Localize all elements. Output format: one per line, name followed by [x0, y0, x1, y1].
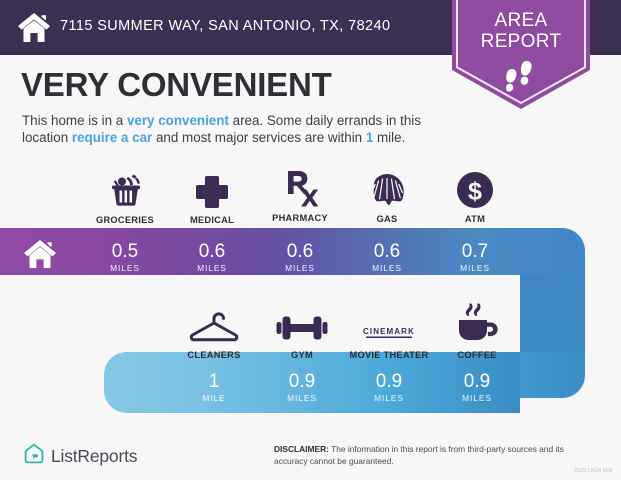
category-label: MOVIE THEATER	[347, 350, 431, 360]
distance-pharmacy: 0.6 MILES	[258, 242, 342, 273]
listreports-house-icon	[24, 443, 44, 469]
distance-unit: MILE	[172, 393, 256, 403]
property-address: 7115 SUMMER WAY, SAN ANTONIO, TX, 78240	[60, 18, 390, 34]
category-label: COFFEE	[435, 350, 519, 360]
distance-value: 0.6	[170, 242, 254, 262]
listreports-logo-text: ListReports	[51, 446, 137, 467]
distance-groceries: 0.5 MILES	[83, 242, 167, 273]
intro-text-1: This home is in a	[22, 113, 127, 128]
svg-text:CINEMARK: CINEMARK	[363, 327, 415, 336]
distance-value: 0.9	[435, 372, 519, 392]
category-pharmacy[interactable]: PHARMACY	[258, 166, 342, 223]
intro-text-4: mile.	[373, 130, 405, 145]
category-label: CLEANERS	[172, 350, 256, 360]
category-label: MEDICAL	[170, 215, 254, 225]
category-label: GAS	[345, 214, 429, 224]
category-coffee[interactable]: COFFEE	[435, 303, 519, 360]
house-icon	[17, 11, 51, 44]
pharmacy-rx-icon	[258, 166, 342, 208]
distance-unit: MILES	[433, 263, 517, 273]
intro-text-3: and most major services are within	[152, 130, 366, 145]
distance-cleaners: 1 MILE	[172, 372, 256, 403]
distance-value: 0.6	[345, 242, 429, 262]
distance-gas: 0.6 MILES	[345, 242, 429, 273]
category-atm[interactable]: $ ATM	[433, 167, 517, 224]
intro-paragraph: This home is in a very convenient area. …	[22, 112, 452, 146]
tiny-watermark: 2025 LR24 #LR	[574, 468, 613, 474]
distance-unit: MILES	[345, 263, 429, 273]
distance-unit: MILES	[258, 263, 342, 273]
category-medical[interactable]: MEDICAL	[170, 168, 254, 225]
badge-line-1: AREA	[452, 10, 590, 31]
distance-unit: MILES	[83, 263, 167, 273]
gas-shell-icon	[345, 167, 429, 209]
category-gym[interactable]: GYM	[260, 303, 344, 360]
category-label: ATM	[433, 214, 517, 224]
disclaimer: DISCLAIMER: The information in this repo…	[274, 444, 594, 467]
area-report-badge: AREA REPORT	[452, 0, 590, 109]
cleaners-hanger-icon	[172, 303, 256, 345]
intro-highlight-2: require a car	[72, 130, 152, 145]
medical-cross-icon	[170, 168, 254, 210]
category-label: GROCERIES	[83, 215, 167, 225]
gym-dumbbell-icon	[260, 303, 344, 345]
distance-value: 0.9	[347, 372, 431, 392]
svg-text:$: $	[468, 178, 482, 206]
distance-value: 0.9	[260, 372, 344, 392]
category-cleaners[interactable]: CLEANERS	[172, 303, 256, 360]
category-gas[interactable]: GAS	[345, 167, 429, 224]
distance-unit: MILES	[170, 263, 254, 273]
distance-value: 0.7	[433, 242, 517, 262]
listreports-logo[interactable]: ListReports	[24, 443, 137, 469]
area-report-page: 7115 SUMMER WAY, SAN ANTONIO, TX, 78240 …	[0, 0, 621, 480]
distance-unit: MILES	[347, 393, 431, 403]
distance-unit: MILES	[435, 393, 519, 403]
intro-highlight-1: very convenient	[127, 113, 229, 128]
page-title: VERY CONVENIENT	[21, 66, 332, 104]
badge-label: AREA REPORT	[452, 10, 590, 52]
distance-value: 0.6	[258, 242, 342, 262]
distance-value: 0.5	[83, 242, 167, 262]
distance-atm: 0.7 MILES	[433, 242, 517, 273]
distance-unit: MILES	[260, 393, 344, 403]
distance-movie-theater: 0.9 MILES	[347, 372, 431, 403]
disclaimer-label: DISCLAIMER:	[274, 444, 329, 454]
distance-gym: 0.9 MILES	[260, 372, 344, 403]
category-groceries[interactable]: GROCERIES	[83, 168, 167, 225]
category-label: GYM	[260, 350, 344, 360]
badge-line-2: REPORT	[452, 31, 590, 52]
distance-medical: 0.6 MILES	[170, 242, 254, 273]
atm-dollar-icon: $	[433, 167, 517, 209]
category-movie-theater[interactable]: CINEMARK MOVIE THEATER	[347, 303, 431, 360]
home-marker-icon	[23, 238, 57, 275]
cinemark-logo-icon: CINEMARK	[347, 303, 431, 345]
coffee-cup-icon	[435, 303, 519, 345]
groceries-basket-icon	[83, 168, 167, 210]
distance-value: 1	[172, 372, 256, 392]
distance-coffee: 0.9 MILES	[435, 372, 519, 403]
category-label: PHARMACY	[258, 213, 342, 223]
